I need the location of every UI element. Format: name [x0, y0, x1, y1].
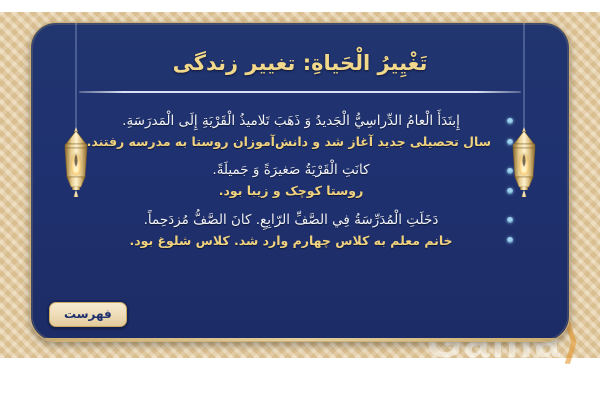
slide-title: تَغْيِيرُ الْحَياةِ: تغییر زندگی — [31, 51, 569, 75]
arabic-text: دَخَلَتِ الْمُدَرِّسَةُ فِي الصَّفِّ الر… — [144, 212, 439, 228]
arabic-line: إِبتَدَأَ الْعامُ الدِّراسِيُّ الْجَديدُ… — [91, 111, 491, 132]
sentence-pair: دَخَلَتِ الْمُدَرِّسَةُ فِي الصَّفِّ الر… — [91, 210, 491, 250]
persian-line: خانم معلم به کلاس چهارم وارد شد. کلاس شل… — [91, 231, 491, 250]
persian-line: سال تحصیلی جدید آغاز شد و دانش‌آموزان رو… — [91, 132, 491, 151]
title-divider — [79, 91, 521, 93]
persian-text: سال تحصیلی جدید آغاز شد و دانش‌آموزان رو… — [87, 134, 491, 149]
slide-root: Gama⟩ تَغْيِيرُ الْحَياةِ: تغییر زندگی — [0, 0, 600, 400]
bullet-point — [507, 188, 513, 194]
bullet-point — [507, 237, 513, 243]
sentence-pair: كانَتِ الْقَرْيَةُ صَغيرَةً وَ جَميلَةً.… — [91, 160, 491, 200]
arabic-text: إِبتَدَأَ الْعامُ الدِّراسِيُّ الْجَديدُ… — [122, 113, 460, 129]
persian-text: روستا کوچک و زیبا بود. — [219, 183, 364, 198]
panel-bottom-rule — [31, 338, 569, 341]
lantern-cord — [524, 23, 525, 129]
bullet-point — [507, 118, 513, 124]
bullet-point — [507, 217, 513, 223]
content-panel: تَغْيِيرُ الْحَياةِ: تغییر زندگی — [30, 22, 570, 342]
bullet-point — [507, 168, 513, 174]
arabic-line: كانَتِ الْقَرْيَةُ صَغيرَةً وَ جَميلَةً. — [91, 160, 491, 181]
lesson-content: إِبتَدَأَ الْعامُ الدِّراسِيُّ الْجَديدُ… — [91, 111, 491, 259]
arabic-line: دَخَلَتِ الْمُدَرِّسَةُ فِي الصَّفِّ الر… — [91, 210, 491, 231]
bullet-point — [507, 139, 513, 145]
index-button[interactable]: فهرست — [49, 302, 127, 327]
lantern-icon — [507, 127, 541, 205]
sentence-pair: إِبتَدَأَ الْعامُ الدِّراسِيُّ الْجَديدُ… — [91, 111, 491, 151]
lantern-cord — [76, 23, 77, 129]
persian-text: خانم معلم به کلاس چهارم وارد شد. کلاس شل… — [129, 233, 452, 248]
persian-line: روستا کوچک و زیبا بود. — [91, 181, 491, 200]
arabic-text: كانَتِ الْقَرْيَةُ صَغيرَةً وَ جَميلَةً. — [212, 162, 369, 178]
